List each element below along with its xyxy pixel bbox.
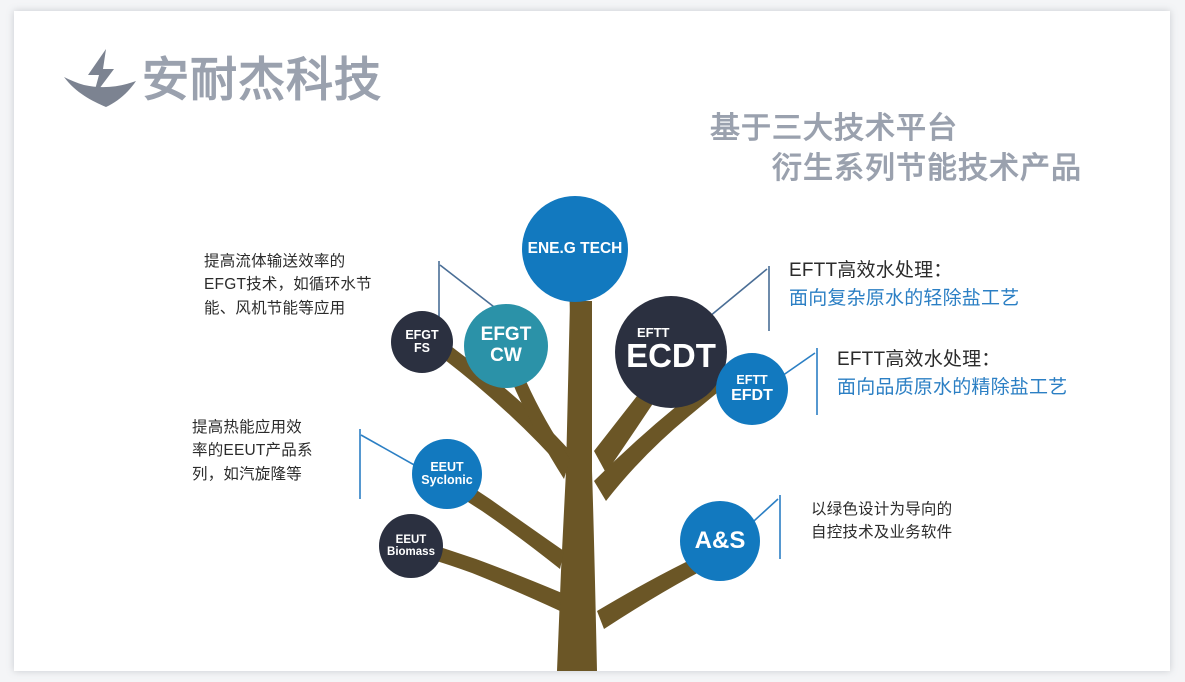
node-as-label: A&S — [695, 528, 746, 554]
callout-ecdt-highlight: 面向复杂原水的轻除盐工艺 — [789, 285, 1149, 313]
tree-main-trunk — [557, 301, 597, 671]
node-eeut-syclonic[interactable]: EEUT Syclonic — [412, 439, 482, 509]
callout-as-line-2: 自控技术及业务软件 — [811, 521, 1041, 544]
node-efgt-fs-sub: EFGT — [405, 329, 438, 343]
callout-efdt-highlight: 面向品质原水的精除盐工艺 — [837, 374, 1170, 402]
callout-eeut-line-2: 率的EEUT产品系 — [192, 439, 362, 462]
node-eftt-efdt-sub: EFTT — [736, 374, 767, 388]
node-eeut-biomass-sub: EEUT — [396, 534, 427, 546]
callout-as-line-1: 以绿色设计为导向的 — [811, 498, 1041, 521]
callout-efdt-title: EFTT高效水处理： — [837, 346, 1170, 374]
node-eneg-tech[interactable]: ENE.G TECH — [522, 196, 628, 302]
node-efgt-cw-label: CW — [490, 346, 522, 367]
node-eftt-efdt[interactable]: EFTT EFDT — [716, 353, 788, 425]
slide-canvas: 安耐杰科技 基于三大技术平台 衍生系列节能技术产品 — [14, 11, 1170, 671]
node-as[interactable]: A&S — [680, 501, 760, 581]
callout-efgt-line-2: EFGT技术，如循环水节 — [204, 273, 424, 296]
node-eftt-ecdt[interactable]: EFTT ECDT — [615, 296, 727, 408]
node-eftt-efdt-label: EFDT — [731, 387, 773, 404]
callout-efgt-line-1: 提高流体输送效率的 — [204, 250, 424, 273]
node-eeut-biomass-label: Biomass — [387, 546, 435, 558]
callout-eeut: 提高热能应用效 率的EEUT产品系 列，如汽旋隆等 — [192, 416, 362, 486]
node-eeut-syclonic-label: Syclonic — [421, 474, 472, 488]
slide-background: 安耐杰科技 基于三大技术平台 衍生系列节能技术产品 — [0, 0, 1185, 682]
callout-eeut-line-1: 提高热能应用效 — [192, 416, 362, 439]
node-efgt-cw-sub: EFGT — [481, 325, 532, 346]
node-eneg-tech-label: ENE.G TECH — [528, 241, 623, 258]
node-efgt-fs[interactable]: EFGT FS — [391, 311, 453, 373]
callout-eeut-line-3: 列，如汽旋隆等 — [192, 463, 362, 486]
callout-as: 以绿色设计为导向的 自控技术及业务软件 — [811, 498, 1041, 545]
callout-efdt: EFTT高效水处理： 面向品质原水的精除盐工艺 — [837, 346, 1170, 402]
node-eeut-biomass[interactable]: EEUT Biomass — [379, 514, 443, 578]
callout-efgt: 提高流体输送效率的 EFGT技术，如循环水节 能、风机节能等应用 — [204, 250, 424, 320]
node-efgt-cw[interactable]: EFGT CW — [464, 304, 548, 388]
callout-ecdt-title: EFTT高效水处理： — [789, 257, 1149, 285]
callout-efgt-line-3: 能、风机节能等应用 — [204, 297, 424, 320]
callout-ecdt: EFTT高效水处理： 面向复杂原水的轻除盐工艺 — [789, 257, 1149, 313]
node-efgt-fs-label: FS — [414, 342, 430, 356]
node-eeut-syclonic-sub: EEUT — [430, 461, 463, 475]
node-eftt-ecdt-label: ECDT — [626, 338, 716, 374]
technology-tree-diagram — [14, 11, 1170, 671]
